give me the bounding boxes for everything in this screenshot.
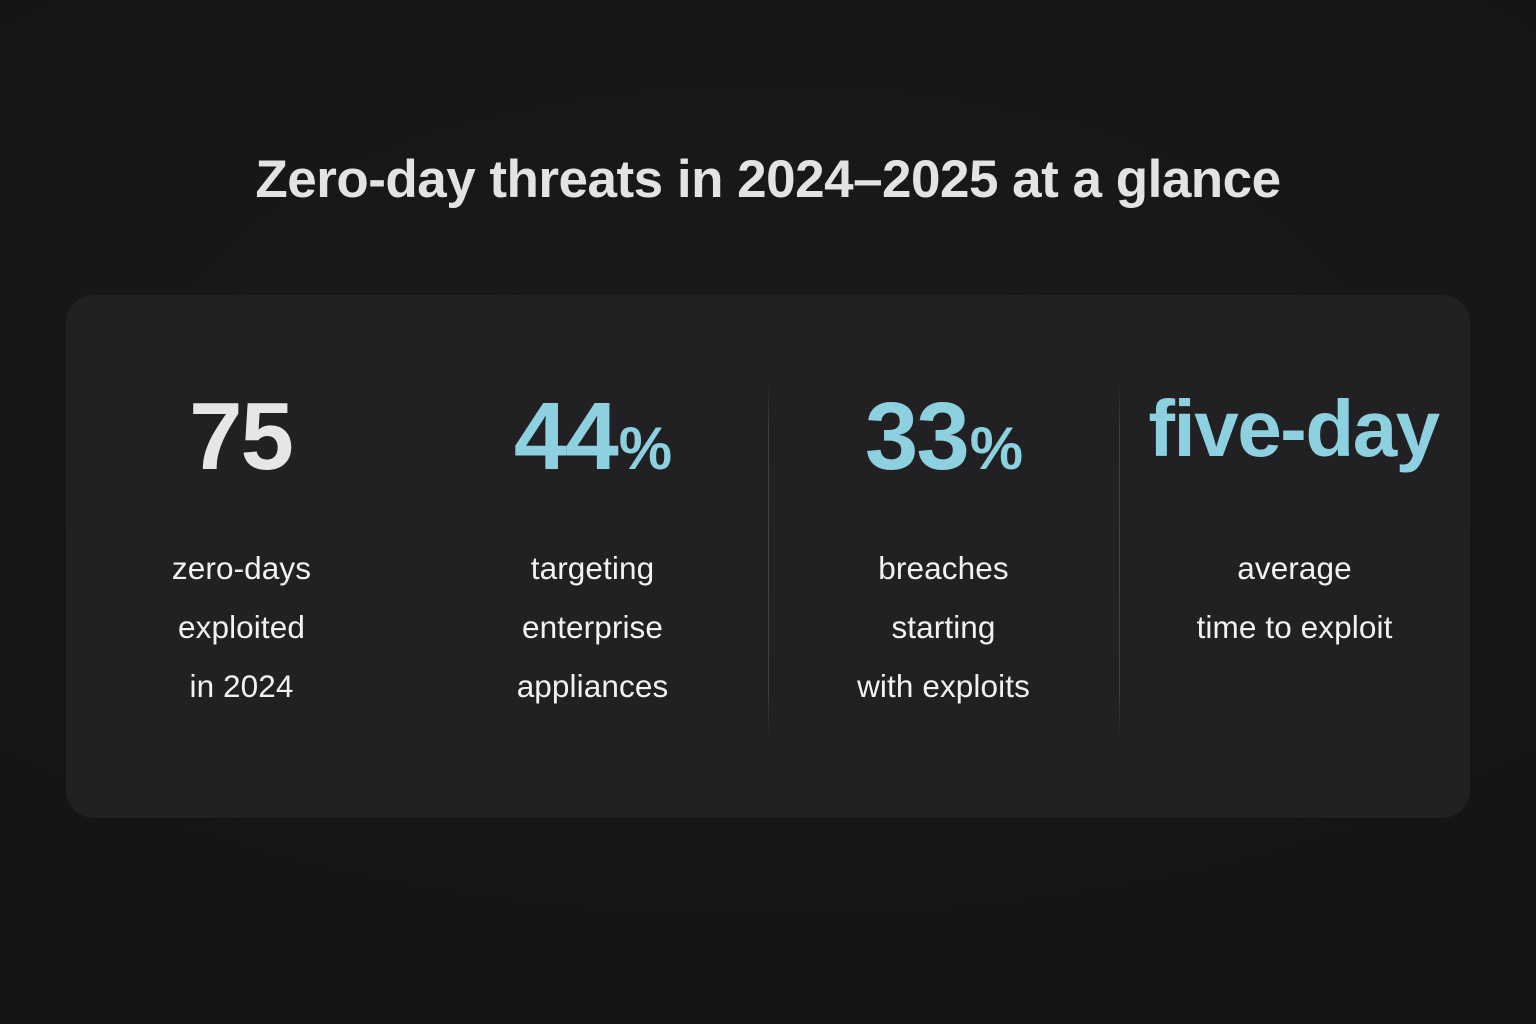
stats-card: 75 zero-days exploited in 2024 44 % targ… — [66, 295, 1470, 818]
stat-caption-4: average time to exploit — [1197, 539, 1393, 657]
stat-item-2: 44 % targeting enterprise appliances — [417, 295, 768, 818]
infographic-page: Zero-day threats in 2024–2025 at a glanc… — [0, 0, 1536, 1024]
stat-number-3: 33 — [865, 389, 968, 485]
stat-number-1: 75 — [189, 389, 292, 485]
stat-caption-2: targeting enterprise appliances — [517, 539, 669, 716]
stat-item-4: five-day average time to exploit — [1119, 295, 1470, 818]
stats-grid: 75 zero-days exploited in 2024 44 % targ… — [66, 295, 1470, 818]
stat-unit-2: % — [619, 419, 671, 479]
stat-item-3: 33 % breaches starting with exploits — [768, 295, 1119, 818]
stat-number-2: 44 — [514, 389, 617, 485]
stat-caption-1: zero-days exploited in 2024 — [172, 539, 311, 716]
stat-value-1: 75 — [189, 389, 294, 493]
stat-value-3: 33 % — [865, 389, 1022, 493]
stat-number-4: five-day — [1148, 389, 1438, 469]
stat-caption-3: breaches starting with exploits — [857, 539, 1030, 716]
stat-value-4: five-day — [1148, 389, 1440, 493]
stat-unit-3: % — [970, 419, 1022, 479]
page-title: Zero-day threats in 2024–2025 at a glanc… — [0, 150, 1536, 211]
stat-item-1: 75 zero-days exploited in 2024 — [66, 295, 417, 818]
stat-value-2: 44 % — [514, 389, 671, 493]
